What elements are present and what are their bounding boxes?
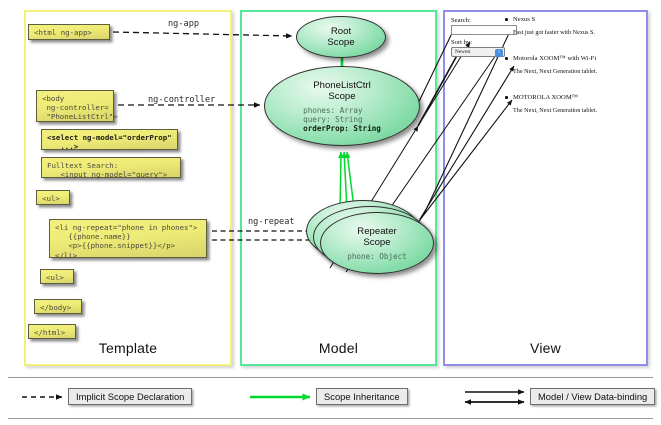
panel-label-template: Template — [24, 340, 232, 356]
scope-root-title-line2: Scope — [327, 37, 354, 48]
scope-phonelistctrl: PhoneListCtrl Scope phones: Array query:… — [264, 66, 420, 146]
code-box-li-repeat: <li ng-repeat="phone in phones"> {{phone… — [49, 219, 207, 258]
code-box-body-close: </body> — [34, 299, 82, 314]
legend-label-scope-inheritance: Scope Inheritance — [316, 388, 408, 405]
panel-label-model: Model — [240, 340, 437, 356]
sort-by-selected-value: Newest — [455, 49, 471, 55]
code-box-html-close: </html> — [28, 324, 76, 339]
scope-repeater-1: Repeater Scope phone: Object — [320, 212, 434, 274]
legend-divider-top — [8, 377, 653, 378]
phone-name: MOTOROLA XOOM™ — [513, 94, 641, 101]
sort-by-select[interactable]: Newest ↕ — [451, 47, 505, 57]
rendered-view: Search: Sort by: Newest ↕ Nexus S Fast j… — [447, 14, 644, 134]
scope-ctrl-title-line1: PhoneListCtrl — [313, 80, 371, 91]
scope-root: Root Scope — [296, 16, 386, 58]
code-box-fulltext-search: Fulltext Search: <input ng-model="query"… — [41, 157, 181, 178]
code-box-select-tag: <select ng-model="orderProp" ...> — [41, 129, 178, 150]
scope-root-title-line1: Root — [331, 26, 351, 37]
scope-root-title: Root Scope — [327, 26, 354, 49]
bullet-icon — [505, 57, 508, 60]
diagram-canvas: <html ng-app> <body ng-controller= "Phon… — [0, 0, 661, 425]
phone-snippet: The Next, Next Generation tablet. — [513, 68, 641, 75]
edge-label-ng-app: ng-app — [168, 19, 199, 29]
scope-repeater-title-line1: Repeater — [357, 226, 396, 237]
scope-repeater-properties: phone: Object — [347, 252, 406, 261]
bullet-icon — [505, 18, 508, 21]
legend-label-implicit-scope-declaration: Implicit Scope Declaration — [68, 388, 192, 405]
legend-divider-bottom — [8, 418, 653, 419]
phone-name: Motorola XOOM™ with Wi-Fi — [513, 55, 641, 62]
scope-phonelistctrl-title: PhoneListCtrl Scope — [313, 80, 371, 103]
scope-repeater-title: Repeater Scope — [357, 226, 396, 249]
phone-snippet: The Next, Next Generation tablet. — [513, 107, 641, 114]
scope-ctrl-props-plain: phones: Array query: String — [303, 106, 362, 124]
bullet-icon — [505, 96, 508, 99]
scope-ctrl-props-bold: orderProp: String — [303, 124, 381, 133]
code-box-html-open: <html ng-app> — [28, 24, 110, 40]
panel-label-view: View — [443, 340, 648, 356]
list-item[interactable]: Motorola XOOM™ with Wi-Fi The Next, Next… — [513, 55, 641, 75]
scope-repeater-title-line2: Scope — [363, 237, 390, 248]
chevron-updown-icon: ↕ — [495, 49, 503, 57]
panel-model — [240, 10, 437, 366]
phone-name: Nexus S — [513, 16, 641, 23]
search-input[interactable] — [451, 25, 517, 35]
sort-by-label: Sort by: — [451, 39, 472, 46]
edge-label-ng-repeat: ng-repeat — [248, 217, 295, 227]
phone-snippet: Fast just got faster with Nexus S. — [513, 29, 641, 36]
edge-label-ng-controller: ng-controller — [148, 95, 215, 105]
code-box-ul-open-2: <ul> — [40, 269, 74, 284]
list-item[interactable]: Nexus S Fast just got faster with Nexus … — [513, 16, 641, 36]
search-label: Search: — [451, 17, 471, 24]
list-item[interactable]: MOTOROLA XOOM™ The Next, Next Generation… — [513, 94, 641, 114]
code-box-body-open: <body ng-controller= "PhoneListCtrl"> — [36, 90, 114, 122]
scope-ctrl-title-line2: Scope — [328, 91, 355, 102]
legend-label-model-view-data-binding: Model / View Data-binding — [530, 388, 655, 405]
code-box-ul-open-1: <ul> — [36, 190, 70, 205]
scope-ctrl-properties: phones: Array query: String orderProp: S… — [303, 106, 381, 133]
